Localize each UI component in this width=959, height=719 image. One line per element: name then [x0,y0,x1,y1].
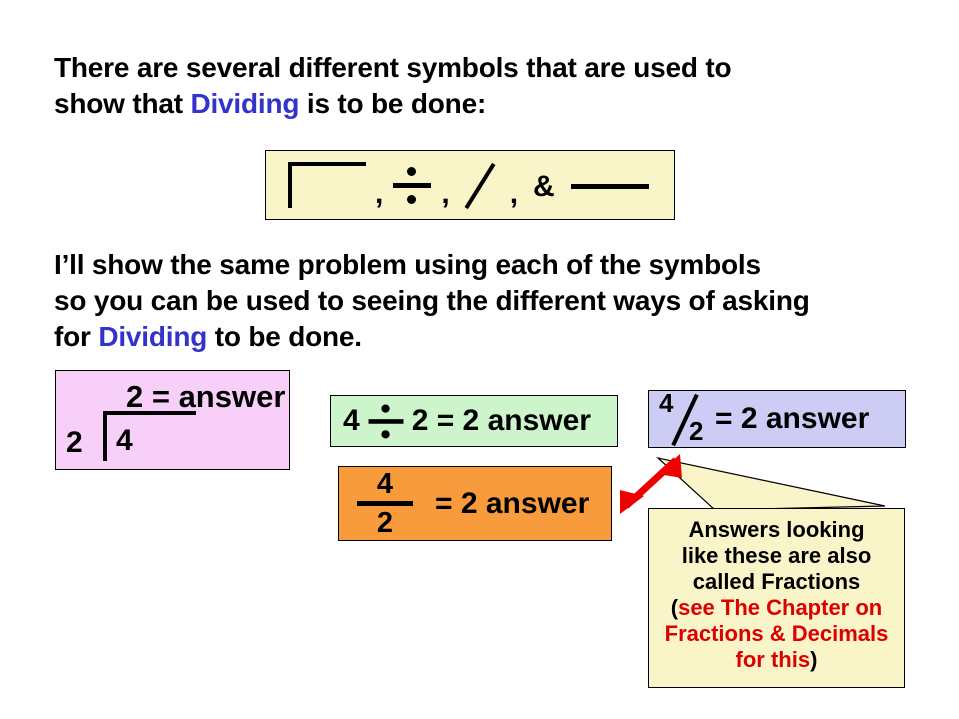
obelus-bar [368,419,403,424]
intro-line-2-prefix: show that [54,88,190,119]
callout-line-6-red: for this [736,647,811,672]
callout-line-3: called Fractions [649,569,904,595]
fraction-result: = 2 answer [435,489,589,519]
callout-line-4-red: see The Chapter on [678,595,882,620]
fraction-rule [357,501,413,506]
callout-paren-close: ) [810,647,817,672]
second-paragraph: I’ll show the same problem using each of… [54,247,944,355]
intro-line-2-suffix: is to be done: [299,88,486,119]
obelus-dot-bottom [407,195,416,204]
callout-line-5: Fractions & Decimals [649,621,904,647]
second-line-1: I’ll show the same problem using each of… [54,249,761,280]
symbol-ampersand: & [527,172,561,202]
second-line-3-prefix: for [54,321,98,352]
obelus-dot-top [381,404,389,412]
forward-slash-icon [459,162,501,208]
fraction-numerator: 4 [377,469,393,499]
obelus-left-operand: 4 [343,406,360,436]
slash-result: = 2 answer [715,404,869,434]
obelus-dot-bottom [381,430,389,438]
callout-paren-open: ( [671,595,678,620]
example-box-fraction: 4 2 = 2 answer [338,466,612,541]
callout-line-4: (see The Chapter on [649,595,904,621]
obelus-bar [393,183,431,188]
fraction-denominator: 2 [377,508,393,538]
slash-denominator: 2 [689,418,703,444]
callout-line-1: Answers looking [649,517,904,543]
obelus-icon [392,163,432,207]
callout-note: Answers looking like these are also call… [648,508,905,688]
slash-numerator: 4 [659,390,673,416]
callout-line-2: like these are also [649,543,904,569]
intro-line-1: There are several different symbols that… [54,52,731,83]
stacked-fraction-icon: 4 2 [357,469,413,539]
callout-line-6: for this) [649,647,904,673]
keyword-dividing-intro: Dividing [190,88,299,119]
obelus-dot-top [407,167,416,176]
symbols-row: , , , & [266,151,674,219]
symbols-box: , , , & [265,150,675,220]
symbol-comma-1: , [366,179,392,209]
second-line-2: so you can be used to seeing the differe… [54,285,810,316]
long-division-divisor: 2 [66,428,83,458]
intro-paragraph: There are several different symbols that… [54,50,924,122]
example-box-obelus: 4 2 = 2 answer [330,395,618,447]
obelus-right-expression: 2 = 2 answer [412,406,591,436]
long-division-quotient: 2 = answer [126,381,285,412]
keyword-dividing-second: Dividing [98,321,207,352]
symbol-comma-2: , [432,179,458,209]
long-division-dividend: 4 [116,426,133,456]
long-division-bracket-icon [288,162,366,208]
example-box-long-division: 2 = answer 2 4 [55,370,290,470]
symbol-comma-3: , [501,179,527,209]
obelus-icon [367,401,404,441]
horizontal-bar-icon [571,184,649,189]
example-box-slash: 4 2 = 2 answer [648,390,906,448]
slash-fraction-icon: 4 2 [657,392,715,446]
second-line-3-suffix: to be done. [207,321,362,352]
